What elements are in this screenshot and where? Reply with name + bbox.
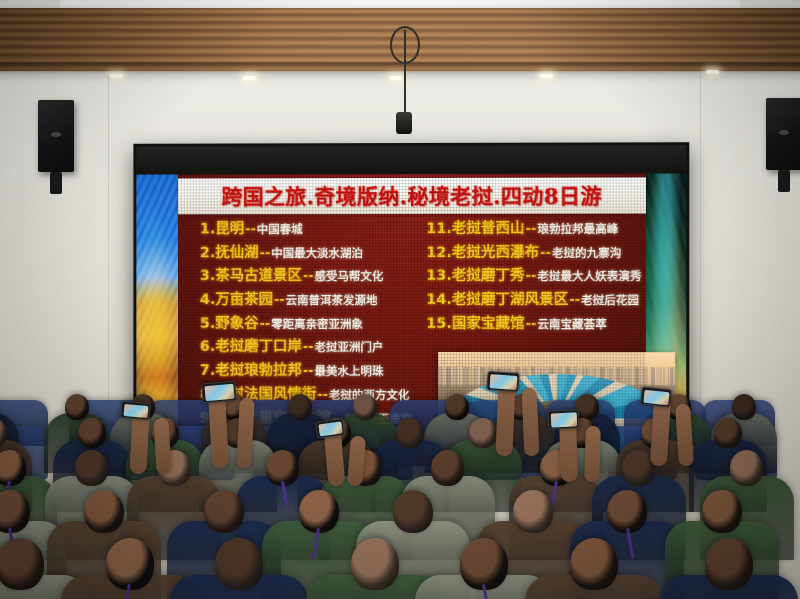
audience-person-head [215, 538, 263, 590]
itinerary-item-separator: -- [525, 222, 538, 237]
audience-raised-arm [675, 404, 694, 467]
ceiling-cable [404, 30, 406, 122]
audience-person-head [75, 450, 108, 486]
downlight-icon [389, 76, 402, 80]
itinerary-item-separator: -- [302, 364, 315, 379]
audience-person-head [204, 490, 244, 533]
itinerary-item: 13.老挝磨丁秀--老挝最大人妖表演秀 [426, 267, 642, 284]
itinerary-item-number: 7. [200, 363, 215, 379]
downlight-icon [706, 70, 719, 74]
downlight-icon [540, 74, 553, 78]
right-wall-speaker [766, 98, 800, 170]
itinerary-item-name: 老挝磨丁湖风景区 [452, 292, 568, 308]
right-speaker-mount [778, 170, 790, 192]
itinerary-item-number: 2. [200, 245, 215, 261]
audience-raised-arm [585, 426, 602, 482]
phone-screen [318, 421, 342, 436]
phone-screen [123, 403, 148, 417]
itinerary-item-separator: -- [568, 293, 581, 308]
itinerary-item-number: 3. [200, 268, 215, 284]
itinerary-item-number: 6. [200, 339, 215, 355]
itinerary-item-description: 老挝后花园 [581, 293, 639, 307]
audience-phone [548, 409, 580, 430]
itinerary-item-description: 老挝亚洲门户 [315, 340, 384, 354]
itinerary-item-description: 零距离亲密亚洲象 [271, 317, 363, 331]
audience-area [0, 392, 800, 599]
presentation-hall-scene: 跨国之旅.奇境版纳.秘境老挝.四动8日游 1.昆明--中国春城2.抚仙湖--中国… [0, 0, 800, 599]
audience-person-head [84, 490, 124, 533]
itinerary-item: 11.老挝普西山--琅勃拉邦最高峰 [426, 220, 642, 237]
itinerary-item-name: 茶马古道景区 [215, 268, 302, 284]
audience-phone [486, 371, 519, 392]
led-bezel-top [136, 145, 686, 174]
audience-person-head [0, 538, 44, 590]
itinerary-item-name: 老挝磨丁秀 [452, 268, 525, 284]
itinerary-item-name: 昆明 [215, 221, 244, 237]
audience-person-head [732, 394, 756, 420]
audience-phone [120, 401, 150, 420]
itinerary-item-name: 国家宝藏馆 [452, 316, 525, 332]
audience-phone [201, 381, 237, 404]
itinerary-item-description: 老挝最大人妖表演秀 [537, 269, 641, 283]
downlight-icon [110, 74, 123, 78]
itinerary-item-name: 老挝光西瀑布 [452, 245, 539, 261]
itinerary-item-number: 5. [200, 316, 215, 332]
audience-person-head [393, 490, 433, 533]
itinerary-item-separator: -- [539, 246, 552, 261]
itinerary-item-description: 云南宝藏荟萃 [537, 317, 606, 331]
itinerary-item-description: 老挝的九寨沟 [552, 245, 621, 259]
slide-title-banner: 跨国之旅.奇境版纳.秘境老挝.四动8日游 [178, 177, 646, 214]
itinerary-item-number: 1. [200, 221, 215, 237]
left-wall-speaker [38, 100, 74, 172]
itinerary-item-name: 万亩茶园 [215, 292, 273, 308]
itinerary-item: 3.茶马古道景区--感受马帮文化 [200, 267, 420, 284]
itinerary-item-description: 感受马帮文化 [315, 269, 384, 283]
itinerary-item-name: 老挝琅勃拉邦 [215, 363, 302, 379]
audience-person-head [714, 418, 742, 448]
slide-title: 跨国之旅.奇境版纳.秘境老挝.四动8日游 [221, 181, 601, 212]
audience-person-head [445, 394, 469, 420]
audience-person-head [702, 490, 742, 533]
itinerary-item-description: 云南普洱茶发源地 [286, 293, 378, 307]
audience-person-head [78, 418, 106, 448]
itinerary-item-separator: -- [244, 222, 257, 237]
ceiling-shadow [0, 62, 800, 74]
audience-person-head [469, 418, 497, 448]
audience-person-head [351, 538, 399, 590]
audience-person-head [705, 538, 753, 590]
itinerary-item: 12.老挝光西瀑布--老挝的九寨沟 [426, 243, 642, 260]
audience-person-head [65, 394, 89, 420]
audience-person-head [730, 450, 763, 486]
itinerary-item-separator: -- [525, 269, 538, 284]
phone-screen [643, 389, 669, 405]
itinerary-item-number: 4. [200, 292, 215, 308]
itinerary-item: 15.国家宝藏馆--云南宝藏荟萃 [426, 315, 642, 332]
itinerary-item-description: 琅勃拉邦最高峰 [537, 222, 618, 236]
audience-raised-arm [522, 388, 540, 457]
audience-person-head [106, 538, 154, 590]
itinerary-item: 1.昆明--中国春城 [200, 220, 420, 237]
itinerary-item-separator: -- [259, 317, 272, 332]
itinerary-item-description: 中国春城 [257, 222, 303, 236]
itinerary-item-name: 抚仙湖 [215, 245, 258, 261]
audience-person-head [288, 394, 312, 420]
itinerary-item-name: 野象谷 [215, 316, 258, 332]
itinerary-item: 14.老挝磨丁湖风景区--老挝后花园 [426, 291, 642, 308]
itinerary-item: 7.老挝琅勃拉邦--最美水上明珠 [200, 362, 420, 379]
itinerary-item-number: 14. [426, 292, 452, 308]
itinerary-item-separator: -- [273, 293, 286, 308]
wall-seam [108, 74, 109, 404]
audience-person-head [570, 538, 618, 590]
itinerary-item: 6.老挝磨丁口岸--老挝亚洲门户 [200, 338, 420, 355]
itinerary-item-name: 老挝磨丁口岸 [215, 339, 302, 355]
audience-person-head [299, 490, 339, 533]
phone-screen [489, 374, 517, 390]
audience-person-head [431, 450, 464, 486]
itinerary-item-number: 15. [426, 316, 452, 332]
itinerary-item-description: 最美水上明珠 [315, 364, 384, 378]
itinerary-item-number: 11. [426, 221, 452, 237]
ceiling-hanging-microphone-icon [396, 112, 412, 134]
audience-person-head [460, 538, 508, 590]
left-speaker-mount [50, 172, 62, 194]
itinerary-item: 5.野象谷--零距离亲密亚洲象 [200, 315, 420, 332]
phone-screen [204, 383, 234, 400]
itinerary-item: 2.抚仙湖--中国最大淡水湖泊 [200, 244, 420, 261]
audience-person-head [0, 450, 26, 486]
itinerary-item: 4.万亩茶园--云南普洱茶发源地 [200, 291, 420, 308]
phone-screen [550, 412, 577, 427]
itinerary-item-number: 13. [426, 268, 452, 284]
audience-person-head [396, 418, 424, 448]
audience-person-head [575, 394, 599, 420]
itinerary-item-separator: -- [302, 340, 315, 355]
audience-person-head [607, 490, 647, 533]
itinerary-item-description: 中国最大淡水湖泊 [271, 246, 363, 260]
wall-seam [700, 74, 701, 404]
audience-person-head [513, 490, 553, 533]
downlight-icon [243, 76, 256, 80]
itinerary-item-name: 老挝普西山 [452, 221, 525, 237]
itinerary-item-separator: -- [259, 246, 272, 261]
itinerary-item-separator: -- [302, 269, 315, 284]
itinerary-item-separator: -- [525, 317, 538, 332]
audience-person-head [353, 394, 377, 420]
itinerary-item-number: 12. [426, 245, 452, 261]
audience-raised-arm [153, 418, 171, 475]
audience-phone [640, 386, 672, 407]
